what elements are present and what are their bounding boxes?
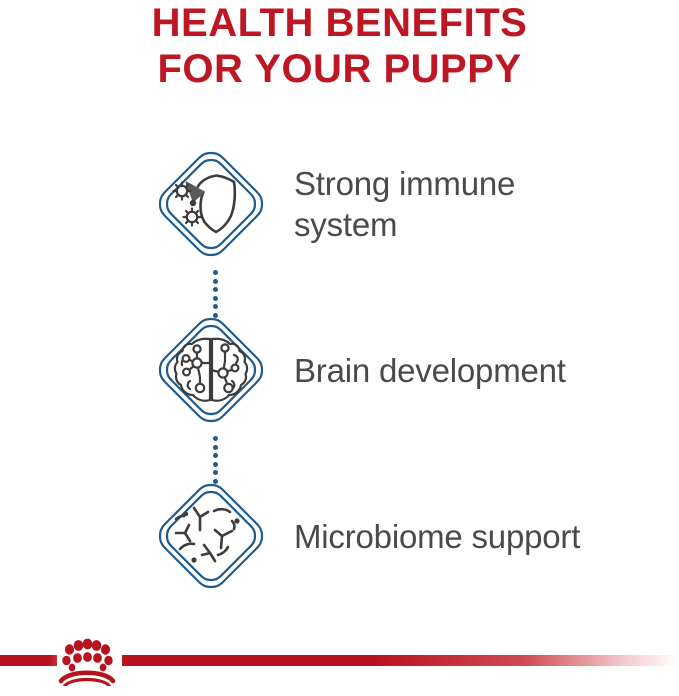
icon-slot-microbiome <box>150 476 280 596</box>
connector-dot <box>213 453 218 458</box>
connector-dot <box>213 470 218 475</box>
microbiome-icon <box>156 481 266 591</box>
benefit-item-brain: Brain development <box>0 310 679 430</box>
connector-dot <box>213 445 218 450</box>
page-title: HEALTH BENEFITS FOR YOUR PUPPY <box>0 0 679 92</box>
benefit-label-microbiome: Microbiome support <box>294 516 580 557</box>
icon-slot-immune <box>150 144 280 264</box>
page-title-line-2: FOR YOUR PUPPY <box>0 46 679 92</box>
connector-dot <box>213 270 218 275</box>
benefit-item-microbiome: Microbiome support <box>0 476 679 596</box>
brain-icon <box>156 315 266 425</box>
connector-dot <box>213 304 218 309</box>
immune-shield-icon <box>156 149 266 259</box>
benefit-item-immune: Strong immune system <box>0 144 679 264</box>
icon-slot-brain <box>150 310 280 430</box>
royal-canin-crown-logo <box>47 636 127 686</box>
connector-dot <box>213 436 218 441</box>
page-title-line-1: HEALTH BENEFITS <box>0 0 679 46</box>
connector-dot <box>213 296 218 301</box>
connector-dot <box>213 287 218 292</box>
connector-dot <box>213 279 218 284</box>
benefit-label-brain: Brain development <box>294 350 566 391</box>
benefits-list: Strong immune system <box>0 140 679 620</box>
brand-bar-right-segment <box>122 655 679 666</box>
connector-dot <box>213 462 218 467</box>
benefit-label-immune: Strong immune system <box>294 163 515 245</box>
footer-brand-bar <box>0 624 679 696</box>
